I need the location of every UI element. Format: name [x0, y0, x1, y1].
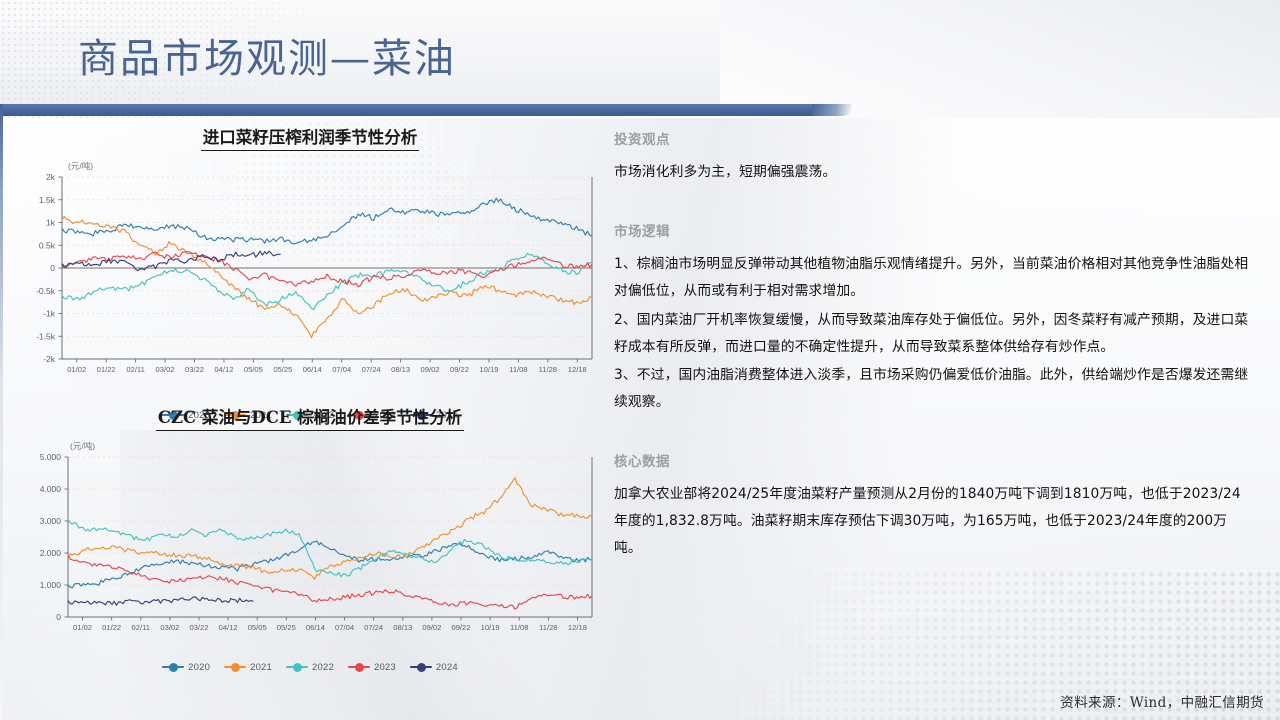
svg-text:1.5k: 1.5k [39, 194, 56, 204]
legend2-item-2022[interactable]: 2022 [286, 662, 334, 673]
svg-text:09/22: 09/22 [451, 623, 470, 632]
market-logic-item-3: 3、不过，国内油脂消费整体进入淡季，且市场采购仍偏爱低价油脂。此外，供给端炒作是… [614, 362, 1254, 416]
legend2-label-2022: 2022 [312, 662, 334, 673]
left-edge-rule [0, 104, 3, 720]
market-logic-item-1: 1、棕榈油市场明显反弹带动其他植物油脂乐观情绪提升。另外，当前菜油价格相对其他竞… [614, 251, 1254, 305]
svg-text:01/22: 01/22 [102, 623, 121, 632]
header-wave-shape [720, 0, 1280, 118]
svg-text:1k: 1k [46, 217, 56, 227]
svg-text:04/12: 04/12 [214, 365, 233, 374]
svg-text:04/12: 04/12 [219, 623, 238, 632]
svg-text:01/02: 01/02 [73, 623, 92, 632]
header-accent-bar-tip [812, 104, 852, 116]
legend2-label-2024: 2024 [436, 662, 458, 673]
legend2-swatch-2022 [286, 666, 308, 668]
investment-view-body: 市场消化利多为主，短期偏强震荡。 [614, 159, 1254, 186]
svg-text:05/05: 05/05 [248, 623, 267, 632]
source-note: 资料来源：Wind，中融汇信期货 [1060, 691, 1264, 711]
legend2-swatch-2020 [162, 666, 184, 668]
chart1-unit-label: (元/吨) [68, 161, 93, 171]
svg-text:07/24: 07/24 [364, 623, 383, 632]
svg-text:03/02: 03/02 [156, 365, 175, 374]
chart-title-wrap-1: 进口菜籽压榨利润季节性分析 [20, 128, 600, 151]
svg-text:10/19: 10/19 [481, 623, 500, 632]
svg-text:08/13: 08/13 [391, 365, 410, 374]
section-head-core-data: 核心数据 [614, 450, 1254, 470]
svg-text:03/22: 03/22 [189, 623, 208, 632]
svg-text:05/05: 05/05 [244, 365, 263, 374]
legend2-swatch-2023 [348, 666, 370, 668]
svg-text:07/24: 07/24 [362, 365, 381, 374]
svg-text:07/04: 07/04 [335, 623, 354, 632]
svg-text:4.000: 4.000 [40, 484, 62, 494]
legend2-item-2021[interactable]: 2021 [224, 662, 272, 673]
svg-text:11/28: 11/28 [539, 623, 557, 632]
legend2-label-2023: 2023 [374, 662, 396, 673]
svg-text:02/11: 02/11 [126, 365, 144, 374]
svg-text:-1k: -1k [43, 308, 56, 318]
section-head-market-logic: 市场逻辑 [614, 220, 1254, 240]
svg-text:11/28: 11/28 [539, 365, 557, 374]
svg-text:1.000: 1.000 [40, 580, 62, 590]
core-data-body: 加拿大农业部将2024/25年度油菜籽产量预测从2月份的1840万吨下调到181… [614, 481, 1254, 562]
legend2-item-2023[interactable]: 2023 [348, 662, 396, 673]
svg-text:12/18: 12/18 [568, 623, 587, 632]
market-logic-item-2: 2、国内菜油厂开机率恢复缓慢，从而导致菜油库存处于偏低位。另外，因冬菜籽有减产预… [614, 307, 1254, 361]
svg-text:0.5k: 0.5k [39, 240, 56, 250]
section-head-investment-view: 投资观点 [614, 128, 1254, 148]
chart2-y-tick-labels: 5.0004.0003.0002.0001.0000 [40, 452, 62, 622]
svg-text:03/02: 03/02 [160, 623, 179, 632]
legend2-item-2020[interactable]: 2020 [162, 662, 210, 673]
legend2-label-2020: 2020 [188, 662, 210, 673]
spacer-2 [614, 418, 1254, 450]
svg-text:05/25: 05/25 [273, 365, 292, 374]
chart-title-spread: CZC 菜油与DCE 棕榈油价差季节性分析 [156, 408, 464, 431]
svg-text:07/04: 07/04 [332, 365, 351, 374]
chart-title-wrap-2: CZC 菜油与DCE 棕榈油价差季节性分析 [20, 408, 600, 431]
chart2-unit-label: (元/吨) [70, 441, 95, 451]
svg-text:-2k: -2k [43, 354, 56, 364]
chart1-y-tick-labels: 2k1.5k1k0.5k0-0.5k-1k-1.5k-2k [36, 172, 56, 364]
svg-text:0: 0 [56, 612, 61, 622]
svg-text:2.000: 2.000 [40, 548, 62, 558]
svg-text:09/02: 09/02 [421, 365, 440, 374]
chart1-gridlines [62, 177, 592, 336]
commentary-panel: 投资观点 市场消化利多为主，短期偏强震荡。 市场逻辑 1、棕榈油市场明显反弹带动… [614, 128, 1254, 564]
svg-text:05/25: 05/25 [277, 623, 296, 632]
svg-text:06/14: 06/14 [303, 365, 322, 374]
svg-text:01/02: 01/02 [67, 365, 86, 374]
svg-text:-1.5k: -1.5k [36, 331, 56, 341]
spacer-1 [614, 188, 1254, 220]
chart2-series-lines [68, 477, 592, 608]
header-accent-bar [0, 104, 838, 116]
page-title: 商品市场观测—菜油 [78, 26, 456, 84]
svg-text:10/19: 10/19 [479, 365, 498, 374]
svg-text:08/13: 08/13 [393, 623, 412, 632]
chart-block-crush-margin: 进口菜籽压榨利润季节性分析 (元/吨) 2k1.5k1k0.5k0-0.5k-1… [20, 128, 600, 421]
svg-text:03/22: 03/22 [185, 365, 204, 374]
slide-root: 商品市场观测—菜油 进口菜籽压榨利润季节性分析 (元/吨) 2k1.5k1k0.… [0, 0, 1280, 720]
svg-text:01/22: 01/22 [97, 365, 116, 374]
svg-text:11/08: 11/08 [509, 365, 527, 374]
svg-text:5.000: 5.000 [40, 452, 62, 462]
chart-canvas-spread: (元/吨) 5.0004.0003.0002.0001.0000 01/0201… [20, 431, 600, 653]
legend2-swatch-2024 [410, 666, 432, 668]
svg-text:09/22: 09/22 [450, 365, 469, 374]
chart2-legend: 2020 2021 2022 2023 2024 [20, 662, 600, 673]
chart-canvas-crush-margin: (元/吨) 2k1.5k1k0.5k0-0.5k-1k-1.5k-2k 01/0… [20, 151, 600, 401]
svg-text:02/11: 02/11 [132, 623, 150, 632]
chart-block-spread: CZC 菜油与DCE 棕榈油价差季节性分析 (元/吨) 5.0004.0003.… [20, 408, 600, 673]
svg-text:06/14: 06/14 [306, 623, 325, 632]
svg-text:09/02: 09/02 [422, 623, 441, 632]
svg-text:2k: 2k [46, 172, 56, 182]
chart-title-crush-margin: 进口菜籽压榨利润季节性分析 [201, 128, 420, 151]
svg-text:11/08: 11/08 [510, 623, 528, 632]
svg-text:3.000: 3.000 [40, 516, 62, 526]
legend2-label-2021: 2021 [250, 662, 272, 673]
chart2-x-tick-labels: 01/0201/2202/1103/0203/2204/1205/0505/25… [73, 623, 587, 632]
legend2-item-2024[interactable]: 2024 [410, 662, 458, 673]
svg-text:0: 0 [50, 263, 55, 273]
svg-text:12/18: 12/18 [568, 365, 587, 374]
chart1-x-tick-labels: 01/0201/2202/1103/0203/2204/1205/0505/25… [67, 365, 587, 374]
legend2-swatch-2021 [224, 666, 246, 668]
svg-text:-0.5k: -0.5k [36, 285, 56, 295]
